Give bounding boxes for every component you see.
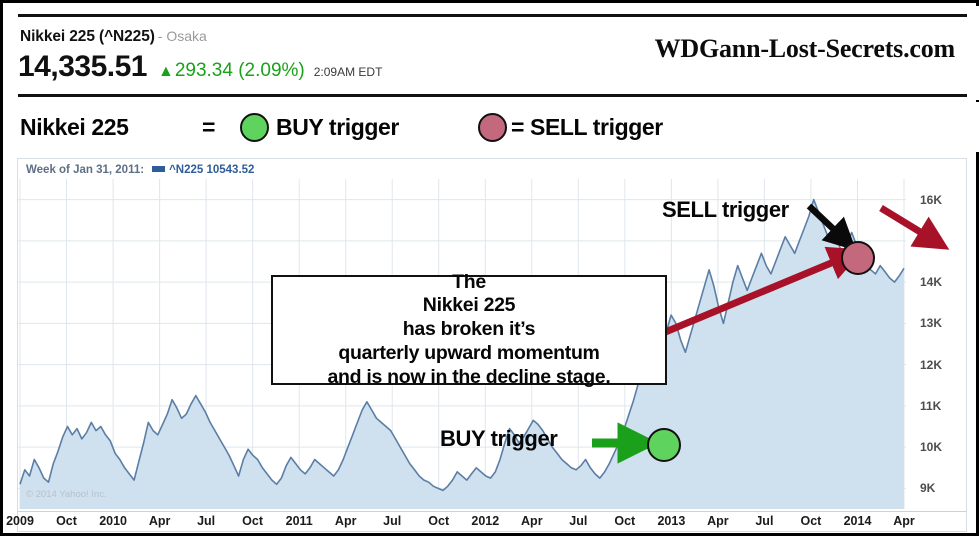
chart-series-value: ^N225 10543.52: [169, 164, 254, 176]
y-axis-tick: 10K: [920, 440, 942, 454]
legend-equals-sign: =: [202, 114, 215, 141]
x-axis-tick: 2009: [6, 514, 34, 528]
legend-sell-dot-icon: [478, 113, 507, 142]
quote-price-row: 14,335.51 ▲293.34 (2.09%) 2:09AM EDT: [18, 50, 382, 84]
x-axis-tick: Jul: [383, 514, 401, 528]
quote-change-value: 293.34 (2.09%): [175, 60, 305, 81]
callout-line-1: The Nikkei 225 has broken it’s: [403, 271, 535, 342]
y-axis-tick: 13K: [920, 316, 942, 330]
x-axis-tick: Jul: [197, 514, 215, 528]
x-axis-tick: Apr: [893, 514, 915, 528]
trigger-legend: Nikkei 225 = BUY trigger = SELL trigger: [6, 102, 979, 152]
x-axis-tick: Apr: [521, 514, 543, 528]
chart-x-axis: 2009Oct2010AprJulOct2011AprJulOct2012Apr…: [18, 511, 966, 534]
analysis-callout-box: The Nikkei 225 has broken it’s quarterly…: [271, 275, 667, 385]
chart-week-label: Week of Jan 31, 2011:: [26, 164, 144, 176]
legend-buy-dot-icon: [240, 113, 269, 142]
quote-name-row: Nikkei 225 (^N225)- Osaka: [20, 28, 207, 46]
up-arrow-icon: ▲: [158, 63, 174, 81]
x-axis-tick: Oct: [428, 514, 449, 528]
quote-timestamp: 2:09AM EDT: [314, 65, 383, 79]
x-axis-tick: Apr: [335, 514, 357, 528]
header-divider-bottom: [18, 94, 967, 97]
y-axis-tick: 9K: [920, 481, 935, 495]
yahoo-credit: © 2014 Yahoo! Inc.: [26, 489, 107, 500]
x-axis-tick: Apr: [707, 514, 729, 528]
quote-change: ▲293.34 (2.09%): [158, 60, 305, 82]
x-axis-tick: 2011: [286, 514, 313, 528]
x-axis-tick: Oct: [56, 514, 77, 528]
x-axis-tick: 2014: [844, 514, 872, 528]
quote-exchange: - Osaka: [158, 28, 207, 44]
chart-buy-marker-icon: [647, 428, 681, 462]
x-axis-tick: 2013: [657, 514, 685, 528]
chart-y-axis: 16K15K14K13K12K11K10K9K: [910, 179, 966, 509]
legend-buy-label: BUY trigger: [276, 114, 399, 141]
y-axis-tick: 12K: [920, 358, 942, 372]
callout-line-2: quarterly upward momentum: [338, 342, 599, 366]
quote-symbol-title: Nikkei 225 (^N225): [20, 28, 155, 45]
screenshot-root: Nikkei 225 (^N225)- Osaka 14,335.51 ▲293…: [0, 0, 979, 536]
y-axis-tick: 15K: [920, 234, 942, 248]
x-axis-tick: 2012: [471, 514, 499, 528]
x-axis-tick: Jul: [755, 514, 773, 528]
quote-header: Nikkei 225 (^N225)- Osaka 14,335.51 ▲293…: [6, 6, 979, 100]
chart-sell-marker-icon: [841, 241, 875, 275]
quote-last-price: 14,335.51: [18, 50, 147, 84]
site-brand: WDGann-Lost-Secrets.com: [655, 34, 955, 64]
chart-subheader: Week of Jan 31, 2011:^N225 10543.52: [26, 164, 254, 176]
series-color-swatch-icon: [152, 166, 165, 172]
callout-line-3: and is now in the decline stage.: [328, 366, 611, 390]
legend-sell-label: = SELL trigger: [511, 114, 663, 141]
sell-trigger-label: SELL trigger: [662, 197, 789, 223]
header-divider-top: [18, 14, 967, 17]
x-axis-tick: Jul: [569, 514, 587, 528]
buy-trigger-label: BUY trigger: [440, 426, 557, 452]
legend-index-name: Nikkei 225: [20, 114, 129, 141]
x-axis-tick: 2010: [99, 514, 127, 528]
x-axis-tick: Apr: [149, 514, 171, 528]
x-axis-tick: Oct: [242, 514, 263, 528]
y-axis-tick: 14K: [920, 275, 942, 289]
y-axis-tick: 16K: [920, 193, 942, 207]
x-axis-tick: Oct: [800, 514, 821, 528]
y-axis-tick: 11K: [920, 399, 941, 413]
x-axis-tick: Oct: [614, 514, 635, 528]
